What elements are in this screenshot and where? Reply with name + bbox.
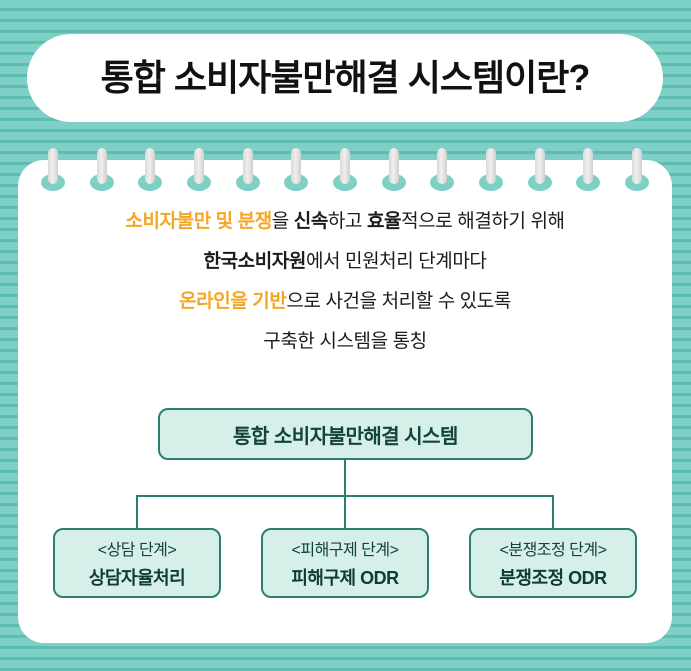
body-text: 적으로 해결하기 위해 [401, 211, 564, 232]
diagram-node-redress-label: 피해구제 ODR [291, 564, 398, 590]
body-text: 에서 민원처리 단계마다 [306, 251, 487, 272]
diagram-node-redress-stage: <피해구제 단계> [292, 536, 399, 560]
diagram-node-consultation: <상담 단계> 상담자율처리 [53, 528, 221, 598]
diagram-node-consultation-label: 상담자율처리 [89, 564, 185, 590]
body-text: 구축한 시스템을 통칭 [263, 331, 426, 352]
connector-drop-2 [344, 495, 346, 528]
diagram-node-consultation-stage: <상담 단계> [98, 536, 177, 560]
diagram-node-root: 통합 소비자불만해결 시스템 [158, 408, 533, 460]
connector-drop-3 [552, 495, 554, 528]
diagram-node-root-label: 통합 소비자불만해결 시스템 [233, 420, 458, 449]
connector-drop-1 [136, 495, 138, 528]
system-flow-diagram: 통합 소비자불만해결 시스템 <상담 단계> 상담자율처리 <피해구제 단계> … [0, 400, 691, 625]
description-line: 한국소비자원에서 민원처리 단계마다 [18, 252, 672, 272]
description-line: 소비자불만 및 분쟁을 신속하고 효율적으로 해결하기 위해 [18, 212, 672, 232]
highlight-bold-text: 신속 [294, 211, 328, 232]
description-line: 온라인을 기반으로 사건을 처리할 수 있도록 [18, 292, 672, 312]
title-banner: 통합 소비자불만해결 시스템이란? [27, 34, 663, 122]
diagram-node-mediation-label: 분쟁조정 ODR [499, 564, 606, 590]
description-line: 구축한 시스템을 통칭 [18, 332, 672, 352]
page-title: 통합 소비자불만해결 시스템이란? [101, 60, 590, 96]
highlight-accent-text: 온라인을 기반 [179, 291, 286, 312]
highlight-accent-text: 소비자불만 및 분쟁 [125, 211, 271, 232]
diagram-node-redress: <피해구제 단계> 피해구제 ODR [261, 528, 429, 598]
highlight-bold-text: 한국소비자원 [203, 251, 305, 272]
diagram-node-mediation: <분쟁조정 단계> 분쟁조정 ODR [469, 528, 637, 598]
description-paragraph: 소비자불만 및 분쟁을 신속하고 효율적으로 해결하기 위해한국소비자원에서 민… [18, 212, 672, 352]
body-text: 을 [272, 211, 294, 232]
diagram-node-mediation-stage: <분쟁조정 단계> [500, 536, 607, 560]
body-text: 하고 [328, 211, 367, 232]
highlight-bold-text: 효율 [367, 211, 401, 232]
body-text: 으로 사건을 처리할 수 있도록 [286, 291, 510, 312]
